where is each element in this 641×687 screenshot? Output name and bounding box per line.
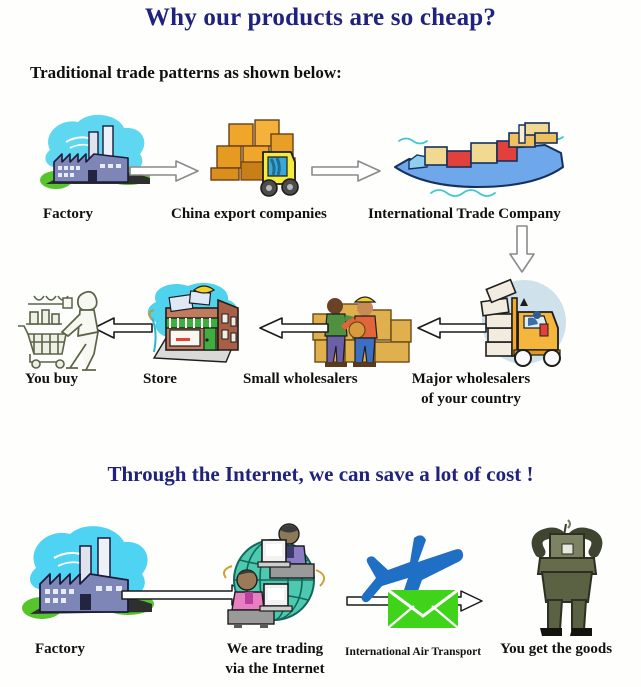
label-small-wholesalers: Small wholesalers <box>243 370 358 389</box>
globe-computers-icon <box>212 518 337 638</box>
arrow-major-to-small-wholesalers <box>412 315 488 341</box>
internet-section-title: Through the Internet, we can save a lot … <box>0 462 641 487</box>
label-you-buy: You buy <box>25 370 78 389</box>
person-carrying-box-icon <box>512 518 622 643</box>
arrow-factory-to-export <box>128 158 204 184</box>
label-you-get-the-goods: You get the goods <box>500 640 612 659</box>
label-store: Store <box>143 370 177 389</box>
arrow-export-to-ship <box>310 158 386 184</box>
label-major-wholesalers-line1: Major wholesalers <box>386 370 556 389</box>
page-title: Why our products are so cheap? <box>0 4 641 32</box>
container-ship-icon <box>385 115 575 205</box>
label-internet-trading-line1: We are trading <box>205 640 345 659</box>
airplane-envelope-icon <box>358 528 478 640</box>
arrow-ship-to-major-wholesalers <box>508 224 538 276</box>
label-china-export-companies: China export companies <box>171 205 327 224</box>
label-internet-trading-line2: via the Internet <box>205 660 345 679</box>
label-factory-internet: Factory <box>35 640 85 659</box>
label-major-wholesalers-line2: of your country <box>386 390 556 409</box>
traditional-section-subtitle: Traditional trade patterns as shown belo… <box>30 63 342 83</box>
label-international-trade-company: International Trade Company <box>368 205 561 224</box>
label-factory-row1: Factory <box>43 205 93 224</box>
delivery-truck-icon <box>205 118 315 200</box>
factory-icon <box>32 112 162 202</box>
factory-icon-internet <box>16 522 156 634</box>
arrow-small-wholesalers-to-store <box>254 315 330 341</box>
shopper-with-cart-icon <box>16 278 116 373</box>
infographic-canvas: Why our products are so cheap? Tradition… <box>0 0 641 687</box>
label-international-air-transport: International Air Transport <box>345 643 481 662</box>
